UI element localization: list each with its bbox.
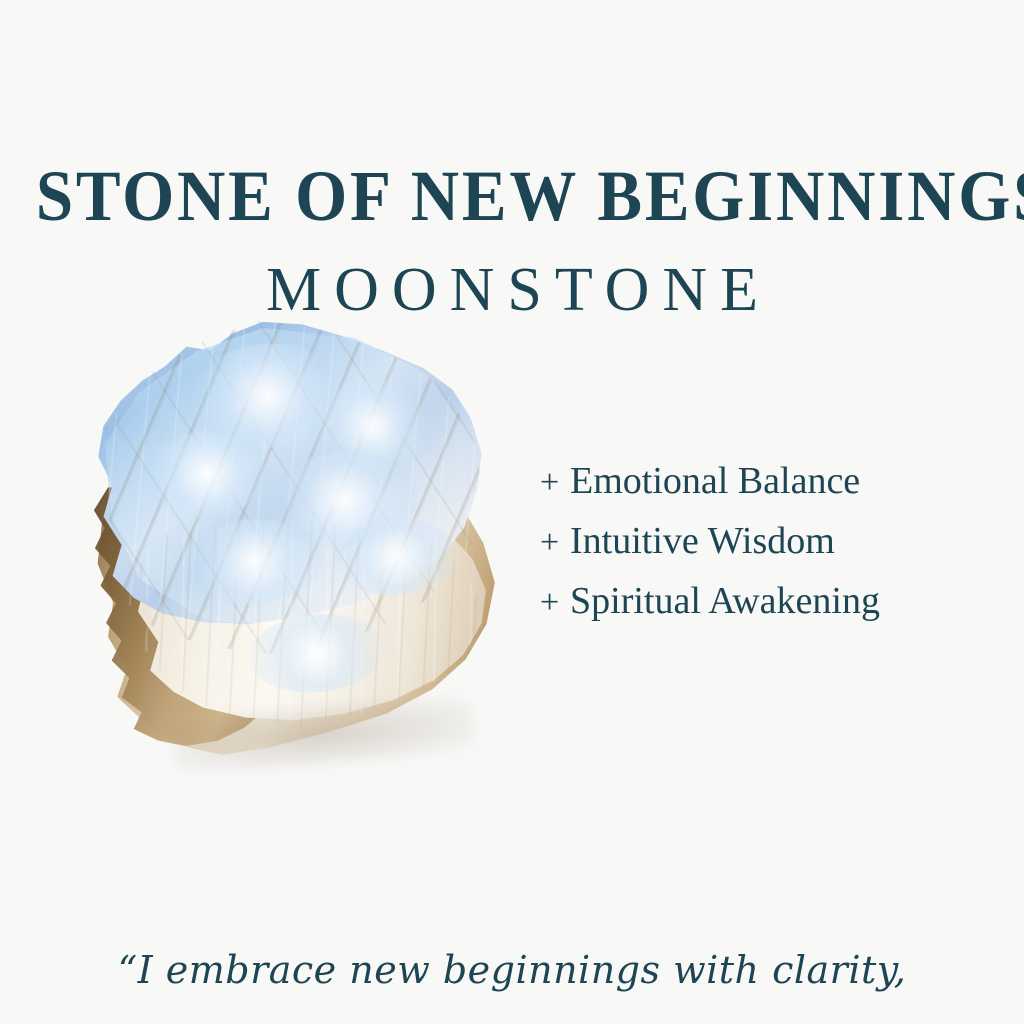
moonstone-illustration — [78, 308, 510, 770]
quote-line-1: “I embrace new beginnings with clarity, — [0, 934, 1024, 1006]
moonstone-crystal-card: STONE OF NEW BEGINNINGS MOONSTONE — [0, 0, 1024, 1024]
moonstone-image — [78, 308, 510, 770]
page-title: STONE OF NEW BEGINNINGS — [36, 160, 988, 232]
plus-icon: + — [540, 573, 570, 632]
benefits-list: + Emotional Balance + Intuitive Wisdom +… — [540, 452, 960, 632]
plus-icon: + — [540, 453, 570, 512]
benefit-item: + Spiritual Awakening — [540, 572, 960, 632]
plus-icon: + — [540, 513, 570, 572]
benefit-label: Emotional Balance — [570, 452, 860, 511]
benefit-item: + Intuitive Wisdom — [540, 512, 960, 572]
affirmation-quote: “I embrace new beginnings with clarity, … — [0, 790, 1024, 1024]
benefit-label: Intuitive Wisdom — [570, 512, 835, 571]
benefit-label: Spiritual Awakening — [570, 572, 880, 631]
benefit-item: + Emotional Balance — [540, 452, 960, 512]
moonstone-body — [68, 299, 519, 773]
